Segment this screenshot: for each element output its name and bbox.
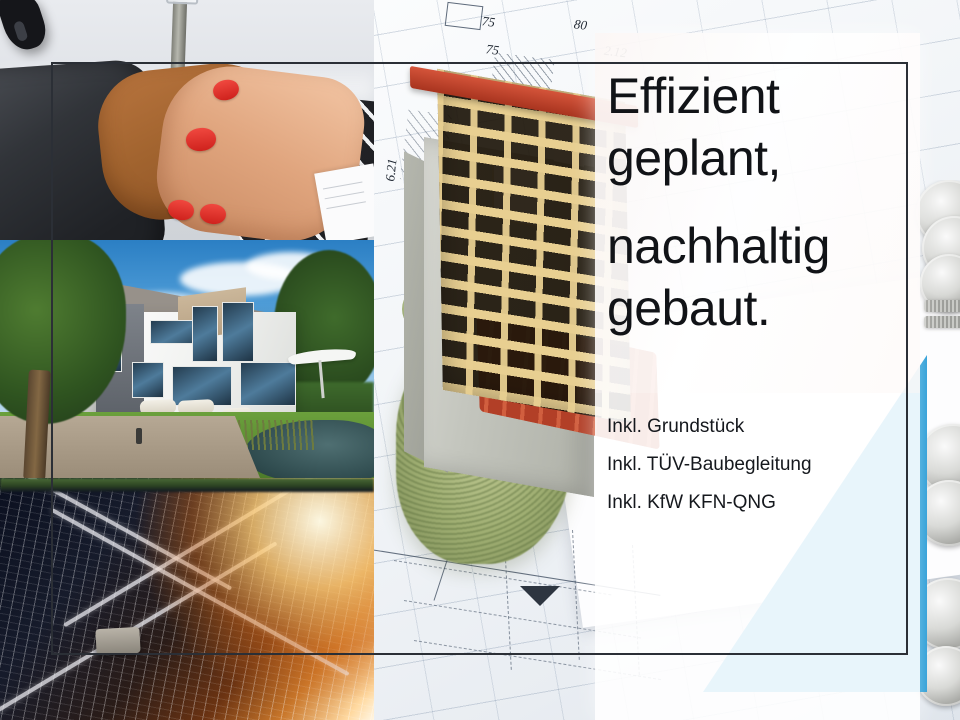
headline-line-3: nachhaltig — [607, 215, 917, 277]
horizon-edge — [0, 478, 374, 492]
marketing-banner: 75 75 80 2.12 6.21 2.20 — [0, 0, 960, 720]
blueprint-detail-box — [445, 2, 484, 30]
feature-item-grundstueck: Inkl. Grundstück — [607, 408, 917, 446]
document-corner — [314, 163, 374, 240]
window — [132, 362, 164, 398]
house-key-icon — [171, 0, 188, 70]
photo-solar-panels — [0, 478, 374, 720]
photo-handshake-with-key — [0, 0, 374, 240]
blueprint-dimension-label: 75 — [481, 13, 496, 30]
feature-list: Inkl. Grundstück Inkl. TÜV-Baubegleitung… — [607, 408, 917, 522]
photo-collage — [0, 0, 374, 720]
text-panel: Effizient geplant, nachhaltig gebaut. In… — [595, 33, 920, 720]
garden-light — [136, 428, 142, 444]
headline-line-1: Effizient — [607, 65, 917, 127]
headline-spacer — [607, 189, 917, 215]
headline-line-2: geplant, — [607, 127, 917, 189]
photo-modern-house — [0, 240, 374, 478]
blueprint-dimension-label: 80 — [573, 16, 588, 33]
feature-item-tuev-baubegleitung: Inkl. TÜV-Baubegleitung — [607, 446, 917, 484]
headline: Effizient geplant, nachhaltig gebaut. — [607, 65, 917, 339]
coin — [916, 480, 960, 546]
window — [222, 302, 254, 362]
coin — [916, 646, 960, 706]
junction-block — [95, 627, 140, 655]
window — [240, 362, 296, 406]
blueprint-level-marker-icon — [520, 586, 560, 606]
coin-stack-edge — [924, 300, 960, 312]
headline-line-4: gebaut. — [607, 277, 917, 339]
coin-stack-edge — [924, 316, 960, 328]
feature-item-kfw-kfn-qng: Inkl. KfW KFN-QNG — [607, 484, 917, 522]
window — [192, 306, 218, 362]
